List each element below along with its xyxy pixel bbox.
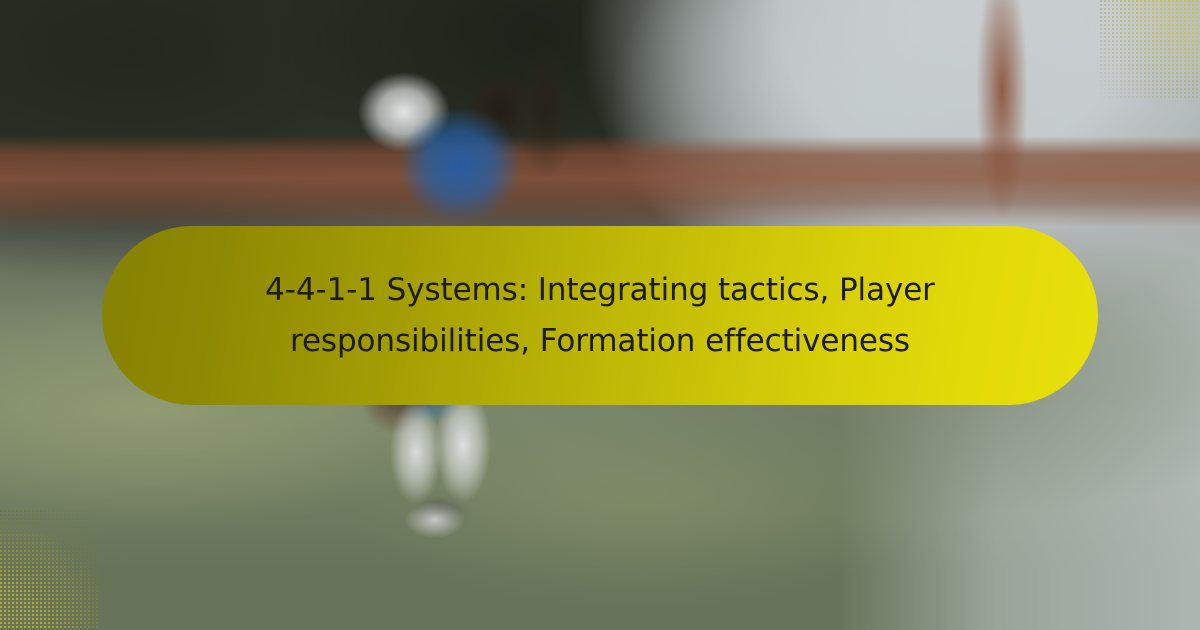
title-pill: 4-4-1-1 Systems: Integrating tactics, Pl…: [102, 226, 1098, 405]
share-card-canvas: 4-4-1-1 Systems: Integrating tactics, Pl…: [0, 0, 1200, 630]
page-title: 4-4-1-1 Systems: Integrating tactics, Pl…: [200, 265, 1000, 365]
